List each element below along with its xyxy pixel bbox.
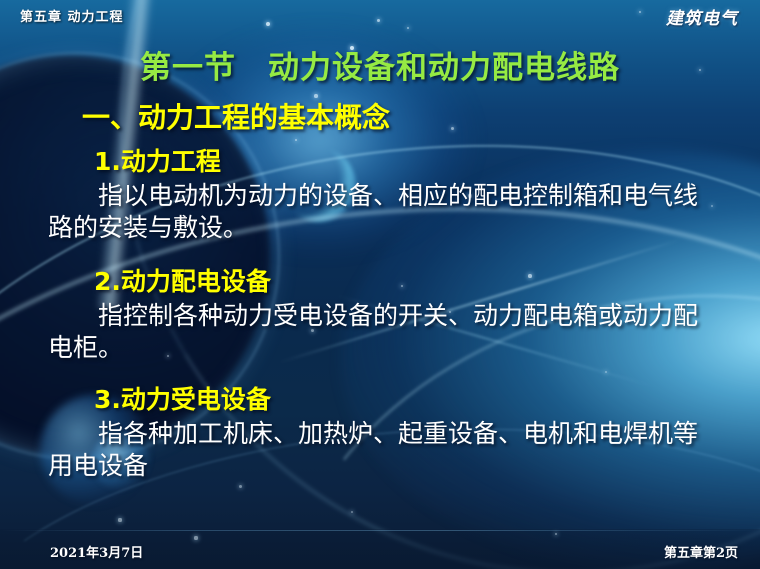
slide-title: 第一节 动力设备和动力配电线路 [0,42,760,87]
subsection-body-3: 指各种加工机床、加热炉、起重设备、电机和电焊机等用电设备 [42,418,722,482]
section-heading-1: 一、动力工程的基本概念 [82,96,722,136]
course-logo-label: 建筑电气 [666,4,738,29]
subsection-body-2: 指控制各种动力受电设备的开关、动力配电箱或动力配电柜。 [42,300,722,364]
slide-content: 第五章 动力工程 建筑电气 第一节 动力设备和动力配电线路 一、动力工程的基本概… [0,0,760,569]
footer-date: 2021年3月7日 [50,542,143,561]
chapter-header-label: 第五章 动力工程 [20,6,124,25]
slide-body: 一、动力工程的基本概念 1.动力工程 指以电动机为动力的设备、相应的配电控制箱和… [42,96,722,492]
presentation-slide: 第五章 动力工程 建筑电气 第一节 动力设备和动力配电线路 一、动力工程的基本概… [0,0,760,569]
subsection-heading-1: 1.动力工程 [94,142,722,178]
subsection-heading-2: 2.动力配电设备 [94,262,722,298]
spacer-1 [42,254,722,262]
footer-page-marker: 第五章第2页 [664,542,738,561]
subsection-body-1: 指以电动机为动力的设备、相应的配电控制箱和电气线路的安装与敷设。 [42,180,722,244]
subsection-heading-3: 3.动力受电设备 [94,380,722,416]
